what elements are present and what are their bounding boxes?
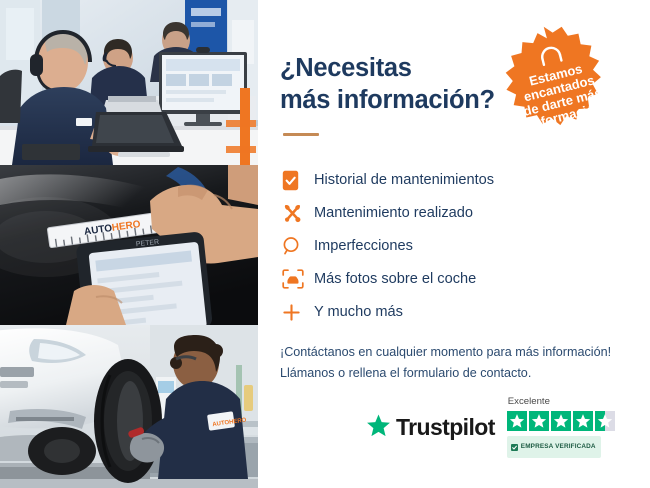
content-column: ¿Necesitas más información? Estamos enca… <box>258 0 650 488</box>
verified-company-badge: EMPRESA VERIFICADA <box>507 436 601 458</box>
star-tile-2 <box>529 411 549 431</box>
star-tile-4 <box>573 411 593 431</box>
trustpilot-block: Trustpilot Excelente <box>366 397 615 458</box>
vehicle-inspection-photo: AUTO HERO P <box>0 165 258 325</box>
contact-text-line-1: ¡Contáctanos en cualquier momento para m… <box>280 342 624 362</box>
tools-icon <box>280 200 314 226</box>
photo-column: AUTO HERO P <box>0 0 258 488</box>
feature-item-maintenance-done: Mantenimiento realizado <box>280 197 624 229</box>
trustpilot-logo: Trustpilot <box>366 413 495 443</box>
trustpilot-rating: Excelente <box>507 397 615 458</box>
title-divider <box>283 133 319 136</box>
verified-company-label: EMPRESA VERIFICADA <box>521 444 596 450</box>
feature-item-maintenance-history: Historial de mantenimientos <box>280 164 624 196</box>
page-title-line-1: ¿Necesitas <box>280 52 530 84</box>
clipboard-check-icon <box>280 167 314 193</box>
mechanic-wheel-photo: AUTOHERO <box>0 325 258 488</box>
support-badge: Estamos encantados de darte más informac… <box>496 22 620 146</box>
car-scan-icon <box>280 266 314 292</box>
feature-item-much-more: Y mucho más <box>280 296 624 328</box>
trustpilot-stars <box>507 411 615 431</box>
feature-label: Historial de mantenimientos <box>314 173 494 188</box>
feature-label: Mantenimiento realizado <box>314 206 473 221</box>
feature-item-imperfections: Imperfecciones <box>280 230 624 262</box>
contact-text-line-2: Llámanos o rellena el formulario de cont… <box>280 363 624 383</box>
call-center-agents-photo <box>0 0 258 165</box>
plus-icon <box>280 299 314 325</box>
contact-text: ¡Contáctanos en cualquier momento para m… <box>280 342 624 383</box>
star-tile-5-half <box>595 411 615 431</box>
trustpilot-wordmark: Trustpilot <box>396 416 495 439</box>
trustpilot-star-icon <box>366 413 391 443</box>
information-promo-card: AUTO HERO P <box>0 0 650 488</box>
verified-check-icon <box>511 438 518 456</box>
trustpilot-rating-label: Excelente <box>508 397 550 407</box>
page-title: ¿Necesitas más información? <box>280 52 530 116</box>
feature-item-more-photos: Más fotos sobre el coche <box>280 263 624 295</box>
feature-label: Imperfecciones <box>314 239 413 254</box>
star-tile-3 <box>551 411 571 431</box>
magnifier-icon <box>280 233 314 259</box>
feature-list: Historial de mantenimientos M <box>280 164 624 328</box>
feature-label: Y mucho más <box>314 305 403 320</box>
page-title-line-2: más información? <box>280 84 530 116</box>
feature-label: Más fotos sobre el coche <box>314 272 476 287</box>
star-tile-1 <box>507 411 527 431</box>
